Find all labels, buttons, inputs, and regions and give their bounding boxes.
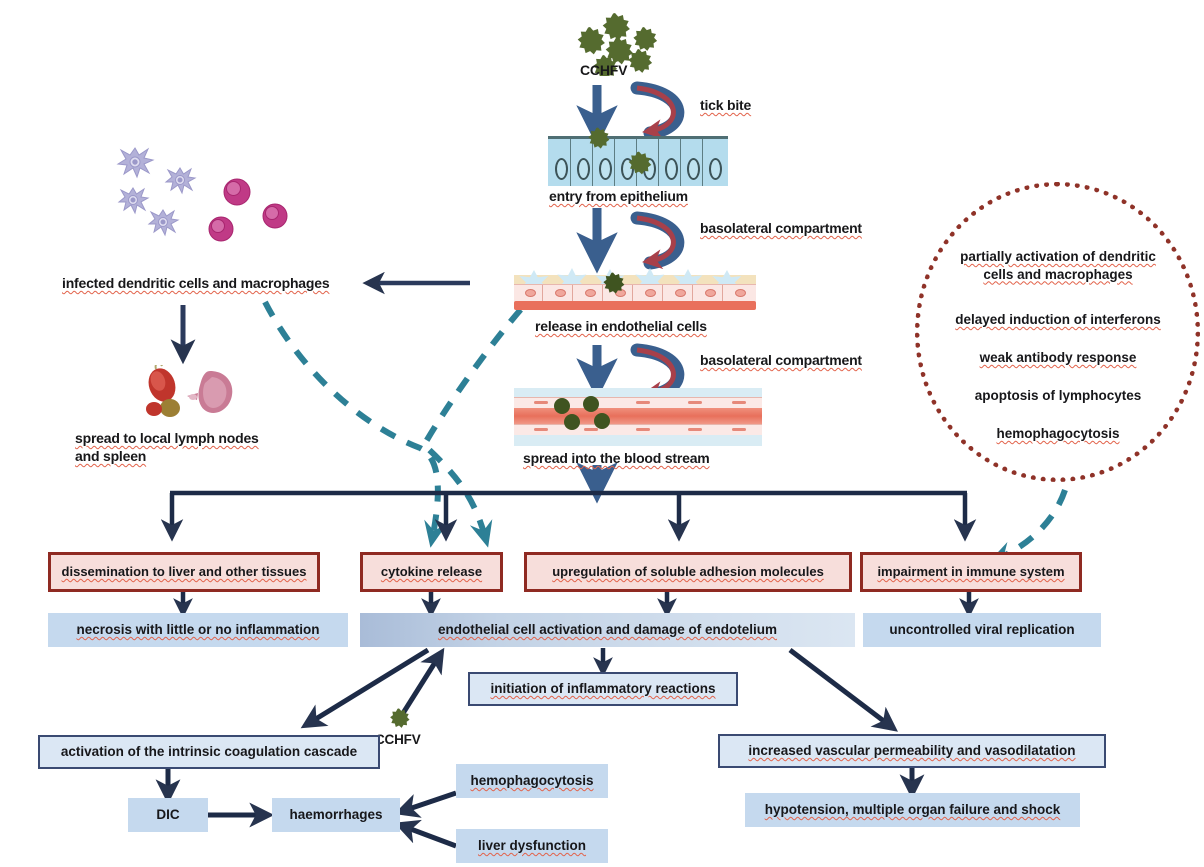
box-increased-vascular-permeability[interactable]: increased vascular permeability and vaso…	[718, 734, 1106, 768]
dashed-line-dendritic-to-cytokine	[265, 302, 438, 540]
box-initiation-inflammatory-reactions[interactable]: initiation of inflammatory reactions	[468, 672, 738, 706]
box-cytokine-label: cytokine release	[381, 564, 482, 580]
box-dic-label: DIC	[156, 807, 179, 823]
box-upregulation-label: upregulation of soluble adhesion molecul…	[552, 564, 824, 580]
box-endothelial-label: endothelial cell activation and damage o…	[438, 622, 777, 638]
box-hemophagocytosis-label: hemophagocytosis	[470, 773, 593, 789]
tick-bite-label: tick bite	[700, 97, 751, 115]
arrow-hemophagocytosis-to-haemorrhages	[400, 793, 456, 812]
box-uncontrolled-label: uncontrolled viral replication	[889, 622, 1074, 638]
oval-item-delayed-interferons: delayed induction of interferons	[930, 311, 1186, 329]
box-dic[interactable]: DIC	[128, 798, 208, 832]
box-dissemination-label: dissemination to liver and other tissues	[62, 564, 307, 580]
box-activation-coagulation-cascade[interactable]: activation of the intrinsic coagulation …	[38, 735, 380, 769]
arrow-liver-dysfunction-to-haemorrhages	[400, 825, 456, 846]
box-coagulation-label: activation of the intrinsic coagulation …	[61, 744, 357, 760]
arrow-endothelial-to-permeability	[790, 650, 893, 728]
box-permeability-label: increased vascular permeability and vaso…	[748, 743, 1075, 759]
infected-dendritic-cells-label: infected dendritic cells and macrophages	[62, 275, 329, 293]
virus-particle-inside-epithelium	[625, 150, 653, 183]
dendritic-cells-and-macrophages-illustration	[105, 140, 325, 255]
box-impairment-label: impairment in immune system	[877, 564, 1064, 580]
box-liver-dysfunction-label: liver dysfunction	[478, 838, 586, 854]
box-necrosis-label: necrosis with little or no inflammation	[76, 622, 319, 638]
box-hypotension-label: hypotension, multiple organ failure and …	[765, 802, 1061, 818]
entry-from-epithelium-label: entry from epithelium	[549, 188, 688, 206]
curved-arrow-tick-bite-inner	[637, 88, 673, 131]
virus-particle-in-endothelium	[600, 271, 626, 302]
box-impairment-immune-system[interactable]: impairment in immune system	[860, 552, 1082, 592]
box-dissemination-to-liver[interactable]: dissemination to liver and other tissues	[48, 552, 320, 592]
box-haemorrhages-label: haemorrhages	[289, 807, 382, 823]
box-endothelial-cell-activation[interactable]: endothelial cell activation and damage o…	[360, 613, 855, 647]
oval-item-hemophagocytosis: hemophagocytosis	[930, 425, 1186, 443]
spread-to-lymph-nodes-label: spread to local lymph nodes and spleen	[75, 430, 259, 466]
curved-arrow-basolateral-2-inner	[637, 350, 673, 393]
box-necrosis[interactable]: necrosis with little or no inflammation	[48, 613, 348, 647]
lymph-node-and-spleen-illustration	[140, 365, 245, 427]
oval-item-apoptosis-lymphocytes: apoptosis of lymphocytes	[930, 387, 1186, 405]
basolateral-compartment-2-label: basolateral compartment	[700, 352, 862, 370]
box-hemophagocytosis[interactable]: hemophagocytosis	[456, 764, 608, 798]
box-hypotension-organ-failure[interactable]: hypotension, multiple organ failure and …	[745, 793, 1080, 827]
basolateral-compartment-1-label: basolateral compartment	[700, 220, 862, 238]
virus-particles-in-bloodstream	[550, 396, 640, 436]
endothelium-illustration	[514, 266, 756, 310]
curved-arrow-basolateral-1-inner	[637, 218, 673, 261]
dashed-line-oval-to-impairment	[995, 490, 1065, 560]
box-cytokine-release[interactable]: cytokine release	[360, 552, 503, 592]
box-upregulation-adhesion-molecules[interactable]: upregulation of soluble adhesion molecul…	[524, 552, 852, 592]
box-haemorrhages[interactable]: haemorrhages	[272, 798, 400, 832]
cchfv-top-label: CCHFV	[580, 62, 627, 80]
spread-into-bloodstream-label: spread into the blood stream	[523, 450, 710, 468]
oval-item-partial-activation: partially activation of dendritic cells …	[930, 248, 1186, 283]
box-liver-dysfunction[interactable]: liver dysfunction	[456, 829, 608, 863]
box-uncontrolled-viral-replication[interactable]: uncontrolled viral replication	[863, 613, 1101, 647]
oval-item-weak-antibody: weak antibody response	[930, 349, 1186, 367]
cchfv-bottom-label: CCHFV	[375, 731, 421, 748]
curved-arrow-basolateral-1	[637, 218, 678, 263]
curved-arrow-tick-bite	[637, 88, 678, 133]
release-in-endothelial-cells-label: release in endothelial cells	[535, 318, 707, 336]
diagram-canvas: CCHFV tick bite entry from epithelium ba…	[0, 0, 1204, 867]
box-inflammatory-label: initiation of inflammatory reactions	[490, 681, 715, 697]
virus-particle-on-epithelium	[585, 126, 611, 157]
